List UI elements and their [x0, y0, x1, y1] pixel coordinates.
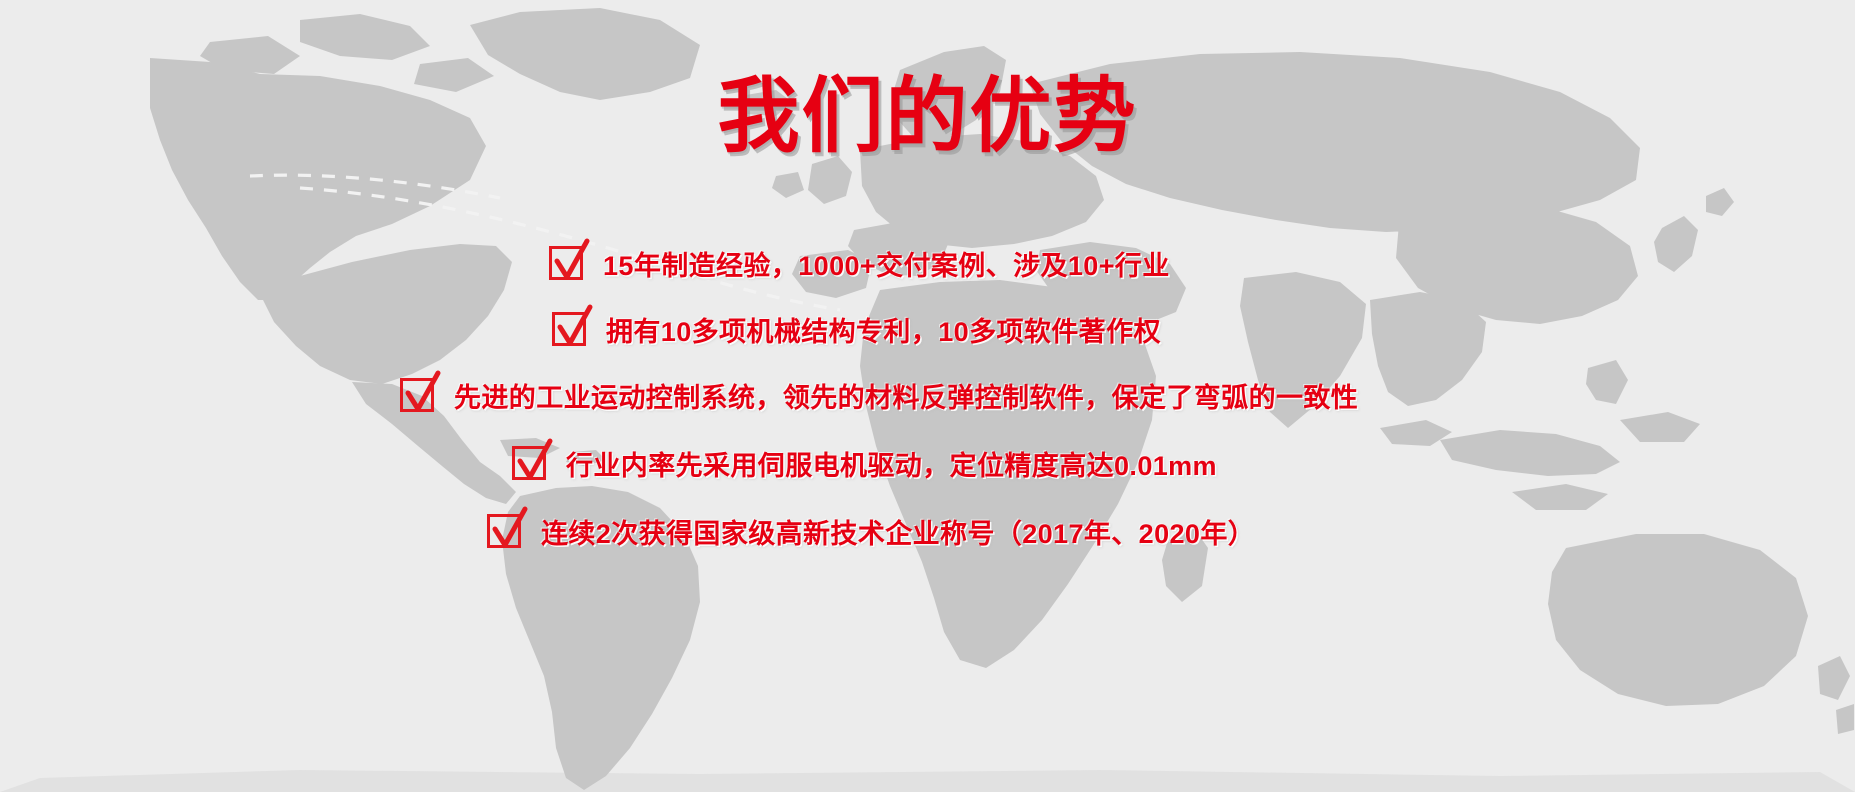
list-item: 拥有10多项机械结构专利，10多项软件著作权	[0, 296, 1855, 362]
list-item-label: 15年制造经验，1000+交付案例、涉及10+行业	[603, 244, 1170, 283]
checkbox-checked-icon	[400, 378, 434, 412]
list-item: 连续2次获得国家级高新技术企业称号（2017年、2020年）	[0, 498, 1855, 564]
list-item: 15年制造经验，1000+交付案例、涉及10+行业	[0, 230, 1855, 296]
page-title: 我们的优势	[0, 76, 1855, 158]
checkbox-checked-icon	[512, 446, 546, 480]
checkbox-checked-icon	[552, 312, 586, 346]
list-item-label: 先进的工业运动控制系统，领先的材料反弹控制软件，保定了弯弧的一致性	[454, 376, 1358, 415]
advantages-banner: 我们的优势 15年制造经验，1000+交付案例、涉及10+行业 拥有10多项机械…	[0, 0, 1855, 792]
checkbox-checked-icon	[549, 246, 583, 280]
list-item-label: 拥有10多项机械结构专利，10多项软件著作权	[606, 310, 1161, 349]
checkbox-checked-icon	[487, 514, 521, 548]
advantages-list: 15年制造经验，1000+交付案例、涉及10+行业 拥有10多项机械结构专利，1…	[0, 222, 1855, 564]
list-item-label: 行业内率先采用伺服电机驱动，定位精度高达0.01mm	[566, 444, 1217, 483]
list-item-label: 连续2次获得国家级高新技术企业称号（2017年、2020年）	[541, 512, 1255, 551]
list-item: 先进的工业运动控制系统，领先的材料反弹控制软件，保定了弯弧的一致性	[0, 362, 1855, 428]
list-item: 行业内率先采用伺服电机驱动，定位精度高达0.01mm	[0, 430, 1855, 496]
